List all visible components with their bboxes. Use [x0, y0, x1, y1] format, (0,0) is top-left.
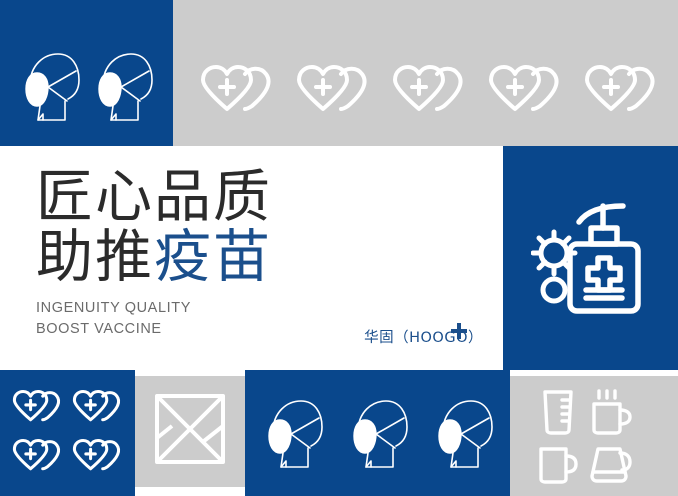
double-heart-plus-icon: [69, 438, 127, 478]
sanitizer-panel: [503, 146, 678, 370]
bottom-mask-icon-row: [261, 395, 497, 473]
double-heart-plus-icon: [9, 438, 67, 478]
page-subtitle-cn: 助推疫苗: [36, 228, 272, 286]
subtitle-line-2: BOOST VACCINE: [36, 319, 191, 340]
double-heart-plus-icon: [195, 64, 281, 122]
bottom-left-heart-panel: [0, 370, 135, 496]
mug-icon: [536, 443, 580, 487]
top-heart-icon-row: [195, 62, 665, 124]
poster-canvas: 匠心品质 助推疫苗 INGENUITY QUALITY BOOST VACCIN…: [0, 0, 678, 496]
subtitle-line-1: INGENUITY QUALITY: [36, 298, 191, 319]
top-heart-strip-panel: [173, 0, 678, 146]
subtitle-en: INGENUITY QUALITY BOOST VACCINE: [36, 298, 191, 340]
measuring-cup-icon: [536, 388, 580, 436]
masked-head-icon: [431, 396, 497, 472]
kettle-icon: [587, 443, 635, 487]
vessel-icon-grid: [532, 386, 636, 490]
page-title: 匠心品质: [36, 168, 272, 226]
masked-head-icon: [18, 49, 84, 125]
double-heart-plus-icon: [483, 64, 569, 122]
masked-head-icon: [346, 396, 412, 472]
top-left-mask-panel: [0, 0, 173, 146]
bottom-mask-panel: [245, 370, 510, 496]
double-heart-plus-icon: [387, 64, 473, 122]
bottom-heart-icon-grid: [8, 384, 128, 482]
headline-accent: 疫苗: [154, 224, 272, 290]
masked-head-icon: [261, 396, 327, 472]
brand-name: 华固（HOOGO）: [364, 326, 483, 347]
double-heart-plus-icon: [69, 389, 127, 429]
headline-prefix: 助推: [36, 224, 154, 290]
broken-image-placeholder-icon: [154, 393, 226, 465]
steaming-mug-icon: [588, 388, 634, 436]
double-heart-plus-icon: [291, 64, 377, 122]
hand-sanitizer-bottle-icon: [531, 198, 651, 322]
masked-head-icon: [91, 49, 157, 125]
broken-image-panel: [135, 376, 245, 487]
top-mask-icon-row: [14, 47, 160, 127]
vessel-icon-panel: [510, 376, 678, 496]
double-heart-plus-icon: [9, 389, 67, 429]
double-heart-plus-icon: [579, 64, 665, 122]
headline-text-panel: 匠心品质 助推疫苗 INGENUITY QUALITY BOOST VACCIN…: [0, 146, 503, 370]
